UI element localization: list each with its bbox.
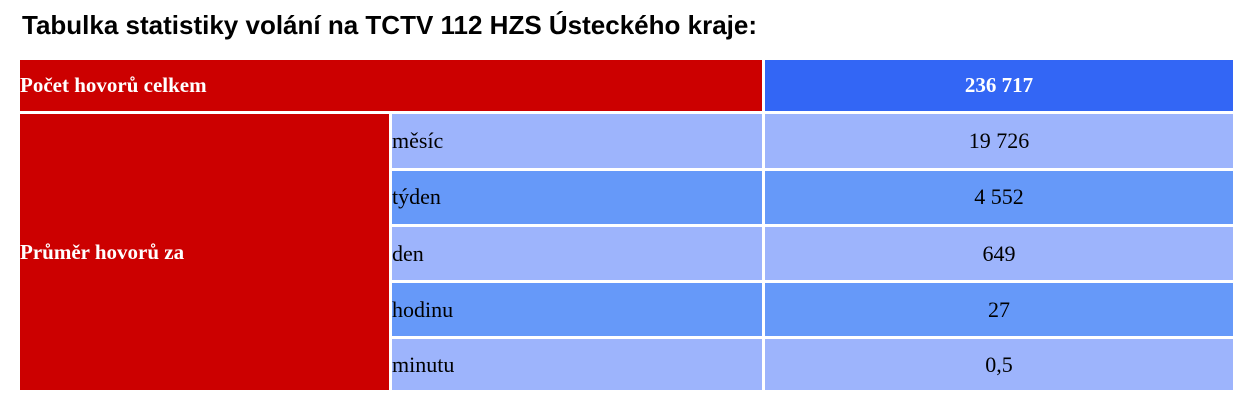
period-value: 0,5 [765, 339, 1233, 390]
page-title: Tabulka statistiky volání na TCTV 112 HZ… [22, 6, 757, 44]
period-value: 19 726 [765, 114, 1233, 170]
period-value: 649 [765, 227, 1233, 283]
total-calls-value: 236 717 [765, 60, 1233, 114]
period-value: 4 552 [765, 171, 1233, 227]
statistics-page: Tabulka statistiky volání na TCTV 112 HZ… [0, 0, 1253, 408]
period-label: minutu [392, 339, 765, 390]
period-label: týden [392, 171, 765, 227]
period-value: 27 [765, 283, 1233, 339]
call-statistics-table: Počet hovorů celkem 236 717 Průměr hovor… [20, 60, 1233, 390]
table-row: Průměr hovorů za měsíc 19 726 [20, 114, 1233, 170]
period-label: hodinu [392, 283, 765, 339]
total-calls-label: Počet hovorů celkem [20, 60, 765, 114]
table-row-total: Počet hovorů celkem 236 717 [20, 60, 1233, 114]
period-label: měsíc [392, 114, 765, 170]
average-calls-label: Průměr hovorů za [20, 114, 392, 390]
period-label: den [392, 227, 765, 283]
